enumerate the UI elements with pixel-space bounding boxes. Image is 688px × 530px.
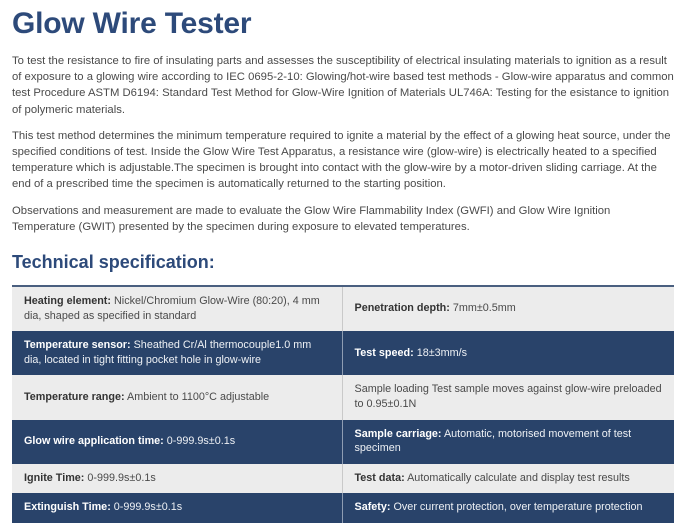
spec-value: 7mm±0.5mm	[453, 302, 516, 314]
spec-label: Glow wire application time:	[24, 435, 164, 447]
spec-label: Penetration depth:	[355, 302, 450, 314]
spec-value: 0-999.9s±0.1s	[167, 435, 235, 447]
spec-label: Temperature sensor:	[24, 339, 131, 351]
spec-cell-right: Test speed: 18±3mm/s	[342, 331, 674, 375]
spec-value: Ambient to 1100°C adjustable	[127, 391, 269, 403]
spec-cell-right: Penetration depth: 7mm±0.5mm	[342, 286, 674, 331]
spec-value: 18±3mm/s	[417, 347, 467, 359]
table-row: Temperature range: Ambient to 1100°C adj…	[12, 375, 674, 419]
spec-label: Test speed:	[355, 347, 414, 359]
spec-cell-right: Sample carriage: Automatic, motorised mo…	[342, 420, 674, 464]
spec-cell-left: Extinguish Time: 0-999.9s±0.1s	[12, 493, 342, 523]
spec-cell-right: Safety: Over current protection, over te…	[342, 493, 674, 523]
spec-cell-left: Temperature sensor: Sheathed Cr/Al therm…	[12, 331, 342, 375]
product-spec-page: Glow Wire Tester To test the resistance …	[0, 0, 688, 530]
table-row: Temperature sensor: Sheathed Cr/Al therm…	[12, 331, 674, 375]
spec-value: Automatically calculate and display test…	[407, 472, 630, 484]
spec-label: Extinguish Time:	[24, 501, 111, 513]
intro-paragraph-1: To test the resistance to fire of insula…	[12, 42, 676, 118]
spec-label: Safety:	[355, 501, 391, 513]
table-row: Glow wire application time: 0-999.9s±0.1…	[12, 420, 674, 464]
table-row: Heating element: Nickel/Chromium Glow-Wi…	[12, 286, 674, 331]
spec-value: Sample loading Test sample moves against…	[355, 383, 662, 410]
spec-label: Temperature range:	[24, 391, 125, 403]
spec-cell-left: Glow wire application time: 0-999.9s±0.1…	[12, 420, 342, 464]
spec-label: Test data:	[355, 472, 405, 484]
technical-specification-table: Heating element: Nickel/Chromium Glow-Wi…	[12, 285, 674, 523]
spec-cell-right: Test data: Automatically calculate and d…	[342, 464, 674, 494]
spec-cell-right: Sample loading Test sample moves against…	[342, 375, 674, 419]
spec-cell-left: Temperature range: Ambient to 1100°C adj…	[12, 375, 342, 419]
page-title: Glow Wire Tester	[12, 0, 676, 42]
table-row: Extinguish Time: 0-999.9s±0.1sSafety: Ov…	[12, 493, 674, 523]
intro-paragraph-3: Observations and measurement are made to…	[12, 193, 676, 235]
spec-value: 0-999.9s±0.1s	[114, 501, 182, 513]
spec-value: 0-999.9s±0.1s	[87, 472, 155, 484]
section-title-technical-specification: Technical specification:	[12, 235, 676, 273]
spec-cell-left: Ignite Time: 0-999.9s±0.1s	[12, 464, 342, 494]
spec-label: Ignite Time:	[24, 472, 84, 484]
spec-label: Heating element:	[24, 295, 111, 307]
table-row: Ignite Time: 0-999.9s±0.1sTest data: Aut…	[12, 464, 674, 494]
spec-table-body: Heating element: Nickel/Chromium Glow-Wi…	[12, 286, 674, 523]
spec-label: Sample carriage:	[355, 428, 442, 440]
spec-cell-left: Heating element: Nickel/Chromium Glow-Wi…	[12, 286, 342, 331]
spec-value: Over current protection, over temperatur…	[394, 501, 643, 513]
intro-paragraph-2: This test method determines the minimum …	[12, 118, 676, 193]
